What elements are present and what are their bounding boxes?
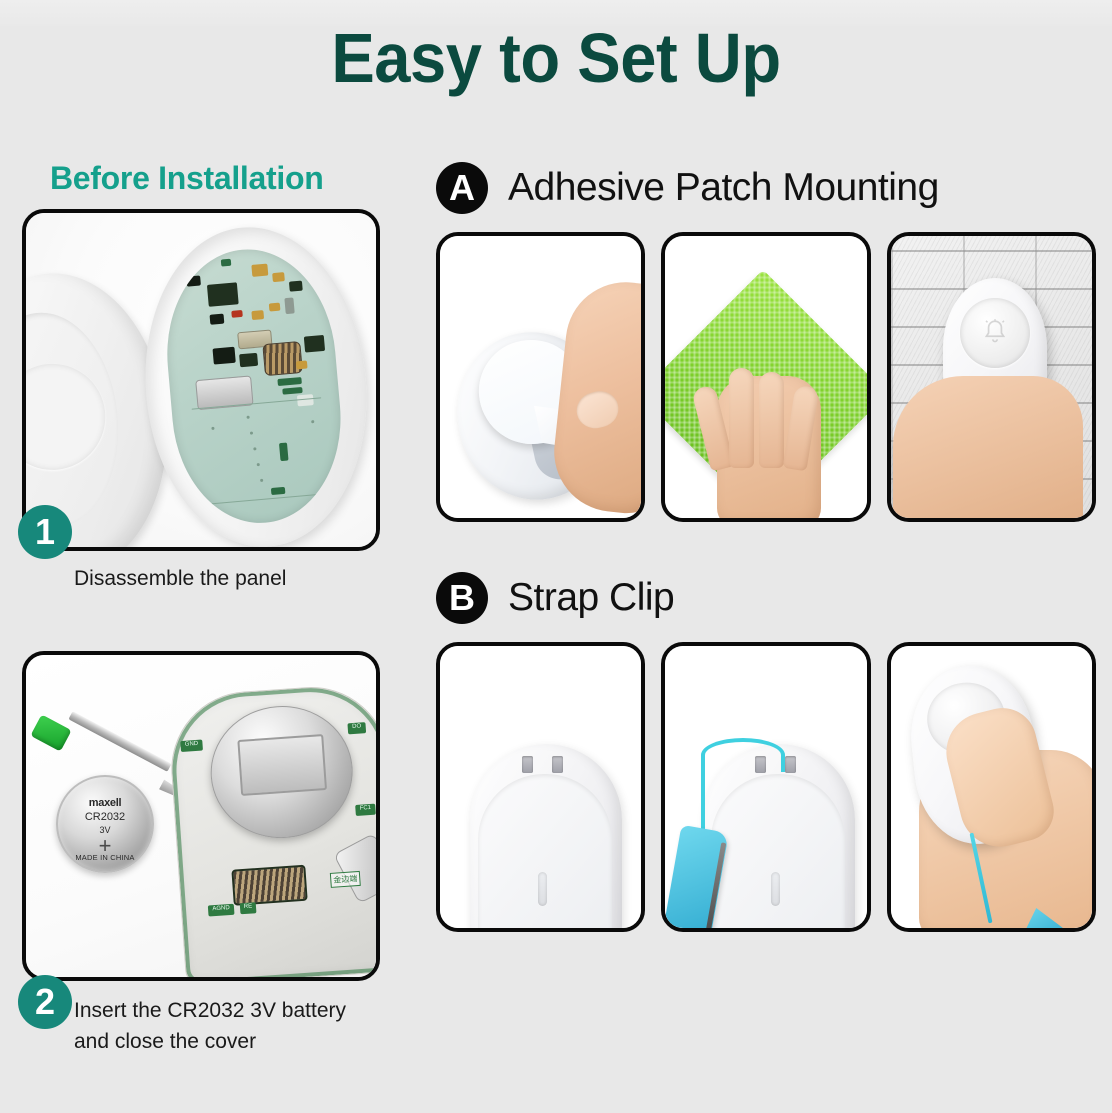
strap-slots-photo: [436, 642, 645, 932]
step-number-badge-2: 2: [18, 975, 72, 1029]
strap-slot-left: [522, 756, 533, 773]
inductor-coil: [231, 865, 307, 906]
device-back-panel: [478, 774, 612, 932]
section-a-heading: A Adhesive Patch Mounting: [436, 160, 1096, 216]
device-back-panel: [711, 774, 845, 932]
device-groove: [771, 872, 780, 906]
pcb-pad-gnd: GND: [180, 740, 203, 753]
circuit-board-with-holder: GND DO AGND RE FC1 金边端: [166, 682, 380, 981]
holder-embossing: [237, 734, 327, 796]
device-back: [703, 744, 855, 932]
pcb-pad-fc1: FC1: [355, 804, 376, 816]
battery-brand-label: maxell: [58, 797, 152, 809]
before-installation-section: Before Installation: [22, 160, 392, 1056]
lid-inner-cavity: [22, 306, 128, 534]
pcb-pad-re: RE: [240, 903, 257, 915]
section-letter-badge-a: A: [436, 162, 488, 214]
battery-origin-label: MADE IN CHINA: [58, 853, 152, 862]
clean-surface-photo: [661, 232, 870, 522]
lid-button-boss: [22, 359, 111, 475]
alarm-button: [960, 298, 1030, 368]
section-b-heading: B Strap Clip: [436, 570, 1096, 626]
section-letter-badge-b: B: [436, 572, 488, 624]
mounting-methods-section: A Adhesive Patch Mounting: [436, 160, 1096, 932]
thread-strap-photo: [661, 642, 870, 932]
circuit-board: [158, 242, 349, 530]
device-back: [470, 744, 622, 932]
section-heading-before-installation: Before Installation: [50, 160, 392, 197]
device-groove: [538, 872, 547, 906]
step-number-badge-1: 1: [18, 505, 72, 559]
step-2-caption-line1: Insert the CR2032 3V battery: [74, 997, 392, 1025]
section-b-title: Strap Clip: [508, 576, 674, 620]
disassembled-panel-photo: [22, 209, 380, 551]
finger-ring: [759, 372, 784, 468]
pcb-pad-do: DO: [347, 722, 366, 734]
step-2-caption-line2: and close the cover: [74, 1028, 392, 1056]
battery-insert-photo: maxell CR2032 3V + MADE IN CHINA GND DO …: [22, 651, 380, 981]
cr2032-battery: maxell CR2032 3V + MADE IN CHINA: [56, 775, 154, 873]
section-b-panel-row: [436, 642, 1096, 932]
battery-model-label: CR2032: [58, 811, 152, 823]
thumbnail: [573, 387, 622, 432]
press-to-wall-photo: [887, 232, 1096, 522]
strap-loop: [701, 738, 785, 772]
section-a-title: Adhesive Patch Mounting: [508, 166, 939, 210]
pcb-pad-agnd: AGND: [208, 904, 235, 917]
finger-middle: [729, 368, 754, 468]
strap-slot-right: [785, 756, 796, 773]
hand: [893, 376, 1083, 522]
strap-slot-right: [552, 756, 563, 773]
pcb-label-chinese: 金边端: [330, 871, 361, 888]
hold-with-strap-photo: [887, 642, 1096, 932]
strap-tail: [701, 754, 705, 836]
page-title: Easy to Set Up: [39, 18, 1073, 98]
section-a-panel-row: [436, 232, 1096, 522]
alarm-bell-icon: [982, 318, 1008, 348]
peel-adhesive-photo: [436, 232, 645, 522]
step-1-caption: Disassemble the panel: [74, 565, 392, 593]
